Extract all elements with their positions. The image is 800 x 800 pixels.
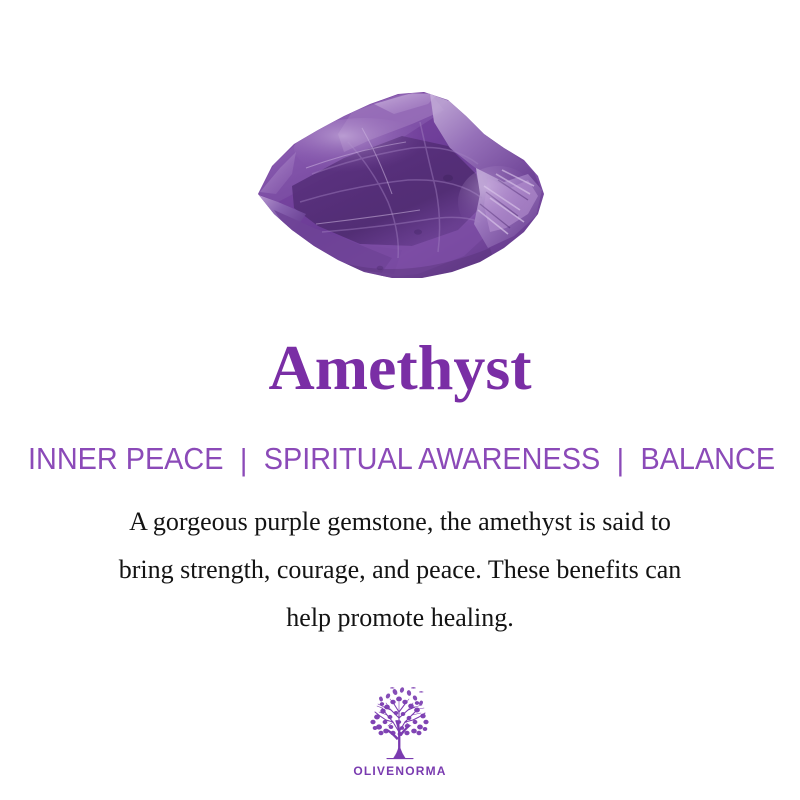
amethyst-crystal-graphic xyxy=(252,82,550,287)
attribute-separator: | xyxy=(608,442,632,478)
attribute-separator: | xyxy=(231,442,255,478)
description-text: A gorgeous purple gemstone, the amethyst… xyxy=(55,498,745,642)
brand-logo: OLIVENORMA xyxy=(0,686,800,778)
amethyst-info-card: Amethyst INNER PEACE | SPIRITUAL AWARENE… xyxy=(0,0,800,800)
description-line: A gorgeous purple gemstone, the amethyst… xyxy=(55,498,745,546)
page-title: Amethyst xyxy=(0,333,800,403)
amethyst-crystal-photo xyxy=(252,82,550,287)
attribute-list: INNER PEACE | SPIRITUAL AWARENESS | BALA… xyxy=(28,441,772,477)
attribute-spiritual-awareness: SPIRITUAL AWARENESS xyxy=(264,441,600,477)
hero-image-area xyxy=(0,70,800,300)
gem-body xyxy=(252,82,550,287)
description-line: help promote healing. xyxy=(55,594,745,642)
attribute-balance: BALANCE xyxy=(640,441,775,477)
description-line: bring strength, courage, and peace. Thes… xyxy=(55,546,745,594)
brand-wordmark: OLIVENORMA xyxy=(0,764,800,778)
attribute-inner-peace: INNER PEACE xyxy=(28,441,223,477)
olive-tree-icon xyxy=(357,686,443,762)
